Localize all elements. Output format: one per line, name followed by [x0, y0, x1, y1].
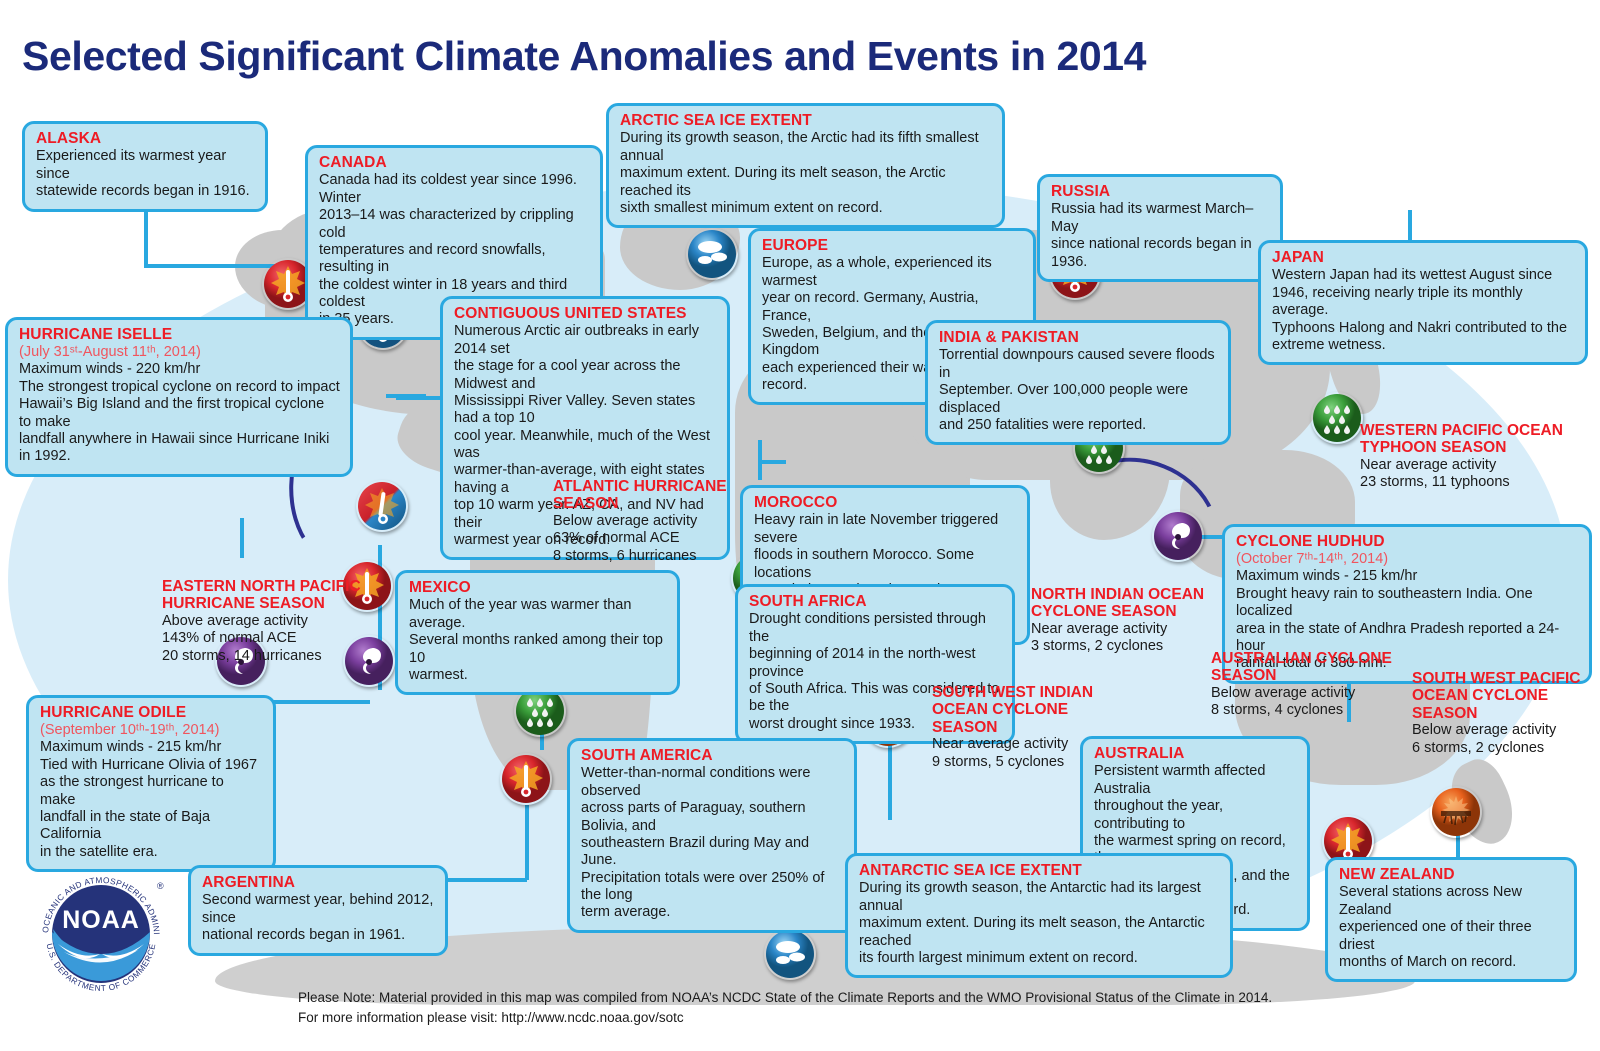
connector-morocco: [760, 460, 786, 464]
callout-japan[interactable]: JAPAN Western Japan had its wettest Augu…: [1258, 240, 1588, 365]
label-title: SOUTH WEST INDIAN OCEAN CYCLONE SEASON: [932, 684, 1122, 736]
callout-hurricane-iselle[interactable]: HURRICANE ISELLE (July 31ˢᵗ-August 11ᵗʰ,…: [5, 317, 353, 477]
connector-morocco-v: [758, 440, 762, 480]
marker-antarctic-ice[interactable]: [764, 928, 816, 980]
footer-line-1: Please Note: Material provided in this m…: [298, 988, 1398, 1008]
callout-body: Western Japan had its wettest August sin…: [1272, 267, 1575, 354]
connector-argentina: [437, 878, 527, 882]
callout-title: ARCTIC SEA ICE EXTENT: [620, 112, 992, 129]
callout-subtitle: (September 10ᵗʰ-19ᵗʰ, 2014): [40, 722, 263, 739]
marker-argentina-warm[interactable]: [500, 753, 552, 805]
callout-argentina[interactable]: ARGENTINA Second warmest year, behind 20…: [188, 865, 448, 956]
callout-body: Experienced its warmest year since state…: [36, 148, 255, 200]
callout-new-zealand[interactable]: NEW ZEALAND Several stations across New …: [1325, 857, 1577, 982]
label-title: WESTERN PACIFIC OCEAN TYPHOON SEASON: [1360, 422, 1590, 457]
callout-russia[interactable]: RUSSIA Russia had its warmest March–May …: [1037, 174, 1283, 282]
callout-title: RUSSIA: [1051, 183, 1270, 200]
marker-arctic-ice[interactable]: [686, 228, 738, 280]
callout-title: CYCLONE HUDHUD: [1236, 533, 1579, 550]
label-north-indian-ocean-cyclone-season: NORTH INDIAN OCEAN CYCLONE SEASON Near a…: [1031, 586, 1231, 656]
label-western-pacific-ocean-typhoon-season: WESTERN PACIFIC OCEAN TYPHOON SEASON Nea…: [1360, 422, 1590, 492]
callout-title: ARGENTINA: [202, 874, 435, 891]
marker-new-zealand-drought[interactable]: [1430, 786, 1482, 838]
callout-body: Second warmest year, behind 2012, since …: [202, 892, 435, 944]
label-body: Near average activity 3 storms, 2 cyclon…: [1031, 621, 1231, 656]
callout-india-and-pakistan[interactable]: INDIA & PAKISTAN Torrential downpours ca…: [925, 320, 1231, 445]
callout-title: MOROCCO: [754, 494, 1017, 511]
marker-western-pacific-typhoon[interactable]: [1311, 392, 1363, 444]
label-title: AUSTRALIAN CYCLONE SEASON: [1211, 650, 1411, 685]
label-body: Above average activity 143% of normal AC…: [162, 613, 382, 666]
callout-mexico[interactable]: MEXICO Much of the year was warmer than …: [395, 570, 680, 695]
label-body: Near average activity 9 storms, 5 cyclon…: [932, 736, 1122, 771]
callout-hurricane-odile[interactable]: HURRICANE ODILE (September 10ᵗʰ-19ᵗʰ, 20…: [26, 695, 276, 872]
callout-body: Maximum winds - 220 km/hr The strongest …: [19, 361, 340, 465]
callout-title: ALASKA: [36, 130, 255, 147]
label-body: Below average activity 8 storms, 4 cyclo…: [1211, 685, 1411, 720]
callout-alaska[interactable]: ALASKA Experienced its warmest year sinc…: [22, 121, 268, 212]
label-south-west-indian-ocean-cyclone-season: SOUTH WEST INDIAN OCEAN CYCLONE SEASON N…: [932, 684, 1122, 771]
label-title: ATLANTIC HURRICANE SEASON: [553, 478, 743, 513]
noaa-logo: NOAA NATIONAL OCEANIC AND ATMOSPHERIC AD…: [26, 856, 176, 1008]
callout-arctic-sea-ice-extent[interactable]: ARCTIC SEA ICE EXTENT During its growth …: [606, 103, 1005, 228]
callout-title: MEXICO: [409, 579, 667, 596]
callout-title: CANADA: [319, 154, 590, 171]
callout-body: Russia had its warmest March–May since n…: [1051, 201, 1270, 271]
callout-title: INDIA & PAKISTAN: [939, 329, 1218, 346]
page-title: Selected Significant Climate Anomalies a…: [22, 33, 1146, 80]
callout-body: Much of the year was warmer than average…: [409, 597, 667, 684]
label-title: NORTH INDIAN OCEAN CYCLONE SEASON: [1031, 586, 1231, 621]
callout-title: HURRICANE ISELLE: [19, 326, 340, 343]
callout-south-america[interactable]: SOUTH AMERICA Wetter-than-normal conditi…: [567, 738, 857, 933]
callout-body: Several stations across New Zealand expe…: [1339, 884, 1564, 971]
callout-title: CONTIGUOUS UNITED STATES: [454, 305, 717, 322]
label-body: Near average activity 23 storms, 11 typh…: [1360, 457, 1590, 492]
callout-title: NEW ZEALAND: [1339, 866, 1564, 883]
label-title: EASTERN NORTH PACIFIC HURRICANE SEASON: [162, 578, 382, 613]
noaa-wordmark: NOAA: [62, 906, 140, 934]
callout-subtitle: (July 31ˢᵗ-August 11ᵗʰ, 2014): [19, 344, 340, 361]
callout-title: SOUTH AMERICA: [581, 747, 844, 764]
callout-title: JAPAN: [1272, 249, 1575, 266]
label-australian-cyclone-season: AUSTRALIAN CYCLONE SEASON Below average …: [1211, 650, 1411, 720]
label-title: SOUTH WEST PACIFIC OCEAN CYCLONE SEASON: [1412, 670, 1600, 722]
callout-body: Maximum winds - 215 km/hr Tied with Hurr…: [40, 739, 263, 861]
callout-title: ANTARCTIC SEA ICE EXTENT: [859, 862, 1220, 879]
label-body: Below average activity 63% of normal ACE…: [553, 513, 743, 566]
callout-title: HURRICANE ODILE: [40, 704, 263, 721]
marker-cyclone-hudhud[interactable]: [1152, 510, 1204, 562]
callout-body: During its growth season, the Antarctic …: [859, 880, 1220, 967]
connector-alaska-h: [144, 264, 287, 268]
callout-title: SOUTH AFRICA: [749, 593, 1002, 610]
callout-title: AUSTRALIA: [1094, 745, 1297, 762]
callout-body: Wetter-than-normal conditions were obser…: [581, 765, 844, 922]
infographic-canvas: Selected Significant Climate Anomalies a…: [0, 0, 1600, 1051]
callout-body: During its growth season, the Arctic had…: [620, 130, 992, 217]
label-eastern-north-pacific-hurricane-season: EASTERN NORTH PACIFIC HURRICANE SEASON A…: [162, 578, 382, 666]
label-atlantic-hurricane-season: ATLANTIC HURRICANE SEASON Below average …: [553, 478, 743, 566]
callout-title: EUROPE: [762, 237, 1023, 254]
callout-antarctic-sea-ice-extent[interactable]: ANTARCTIC SEA ICE EXTENT During its grow…: [845, 853, 1233, 978]
callout-body: Torrential downpours caused severe flood…: [939, 347, 1218, 434]
callout-subtitle: (October 7ᵗʰ-14ᵗʰ, 2014): [1236, 551, 1579, 568]
marker-contiguous-us[interactable]: [356, 480, 408, 532]
footer-note: Please Note: Material provided in this m…: [298, 988, 1398, 1027]
footer-line-2: For more information please visit: http:…: [298, 1008, 1398, 1028]
registered-mark-icon: ®: [157, 881, 164, 891]
connector-argentina-v: [525, 805, 529, 880]
label-south-west-pacific-ocean-cyclone-season: SOUTH WEST PACIFIC OCEAN CYCLONE SEASON …: [1412, 670, 1600, 757]
label-body: Below average activity 6 storms, 2 cyclo…: [1412, 722, 1600, 757]
